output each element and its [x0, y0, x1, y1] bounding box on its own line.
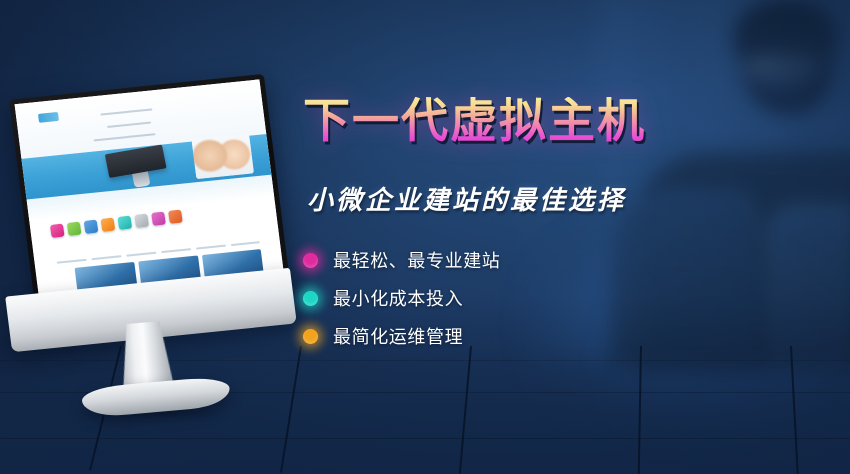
copy-block: 下一代虚拟主机 小微企业建站的最佳选择 最轻松、最专业建站 最小化成本投入 最简… — [0, 0, 850, 474]
feature-item: 最小化成本投入 — [303, 285, 500, 311]
hosting-promo-banner: 下一代虚拟主机 小微企业建站的最佳选择 最轻松、最专业建站 最小化成本投入 最简… — [0, 0, 850, 474]
feature-list: 最轻松、最专业建站 最小化成本投入 最简化运维管理 — [303, 247, 500, 349]
bullet-dot-orange — [303, 329, 318, 344]
headline: 下一代虚拟主机 — [303, 97, 646, 144]
feature-label: 最简化运维管理 — [333, 323, 463, 349]
bullet-dot-magenta — [303, 253, 318, 268]
feature-label: 最轻松、最专业建站 — [333, 247, 500, 273]
feature-label: 最小化成本投入 — [333, 285, 463, 311]
bullet-dot-teal — [303, 291, 318, 306]
feature-item: 最简化运维管理 — [303, 323, 500, 349]
subheadline: 小微企业建站的最佳选择 — [307, 180, 626, 217]
feature-item: 最轻松、最专业建站 — [303, 247, 500, 273]
